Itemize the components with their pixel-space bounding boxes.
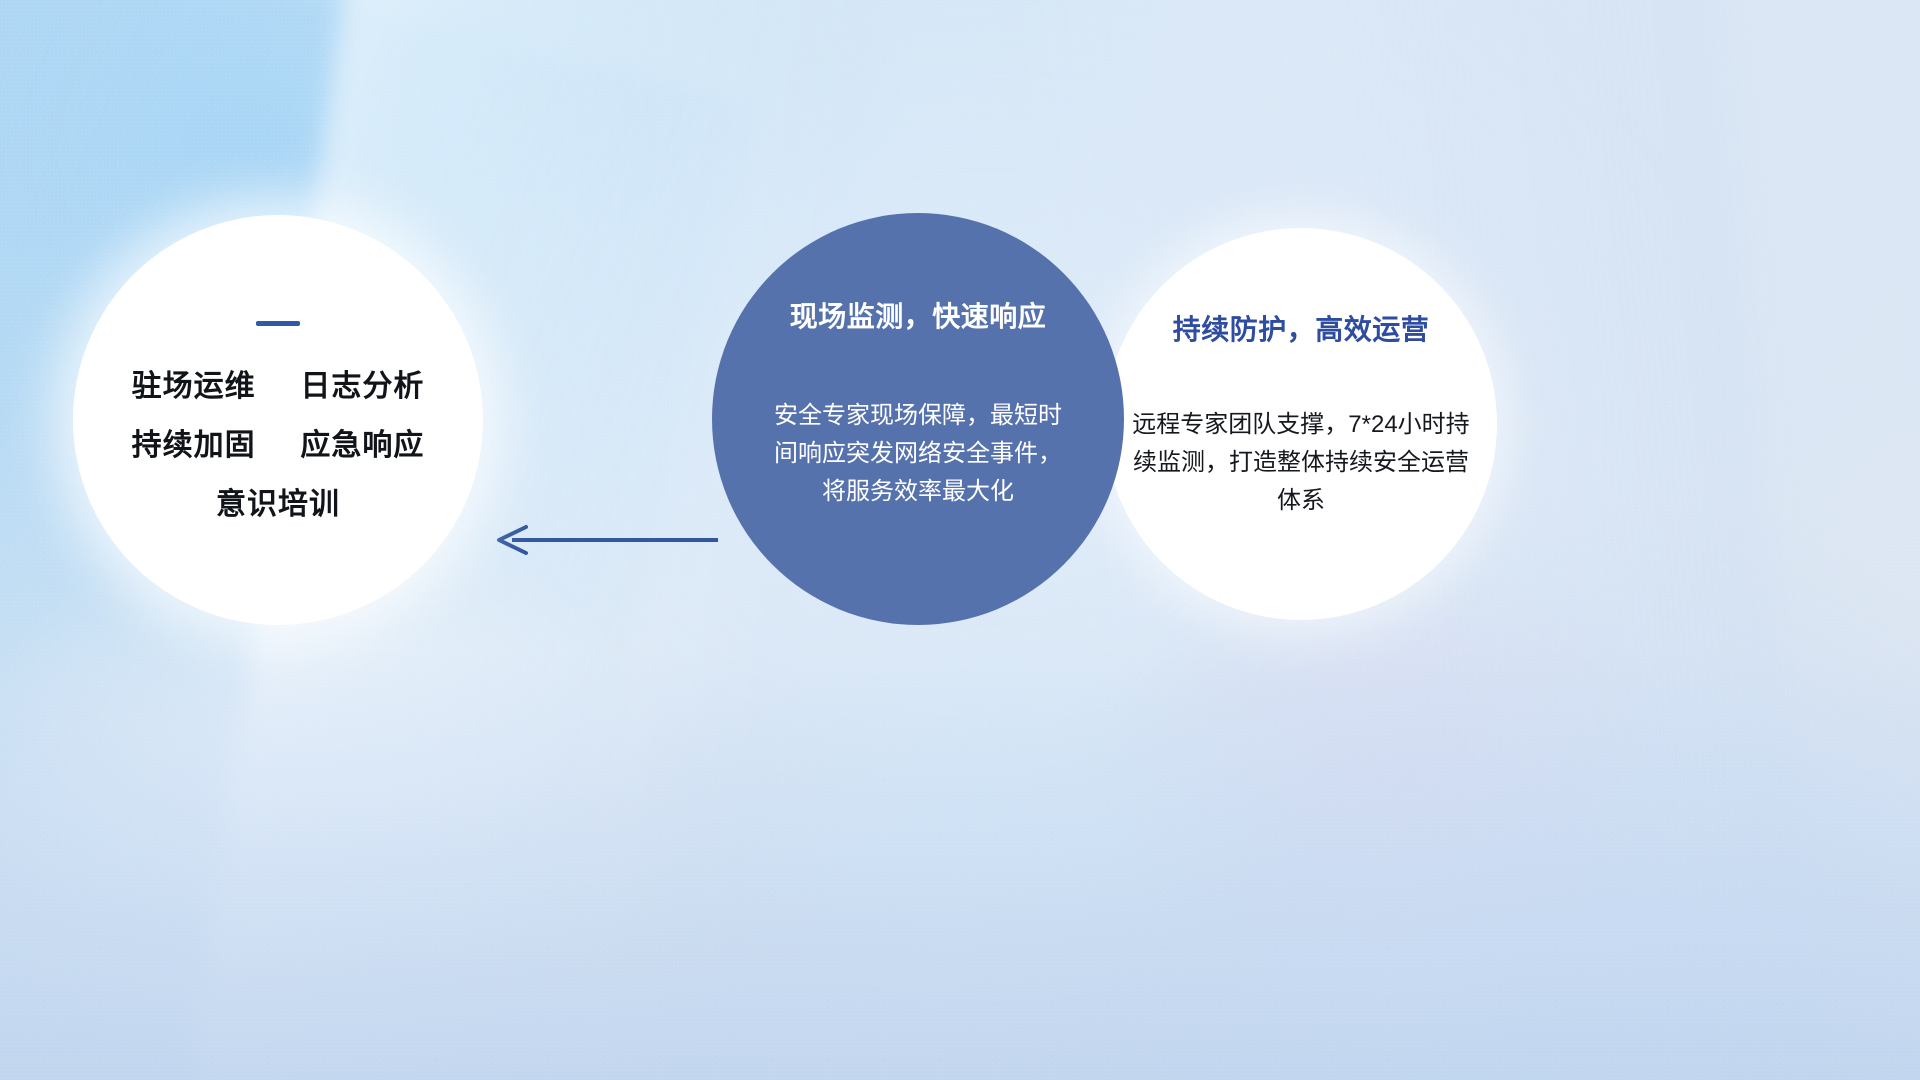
capability-label: 持续加固: [132, 429, 256, 462]
middle-circle-body: 安全专家现场保障，最短时间响应突发网络安全事件，将服务效率最大化: [773, 397, 1063, 511]
arrow-left-icon: [480, 515, 720, 565]
left-circle-content: 驻场运维 日志分析 持续加固 应急响应 意识培训: [73, 215, 483, 625]
right-circle-content: 持续防护，高效运营 远程专家团队支撑，7*24小时持续监测，打造整体持续安全运营…: [1105, 228, 1497, 620]
capability-label: 驻场运维: [132, 370, 256, 403]
capability-circle-left[interactable]: 驻场运维 日志分析 持续加固 应急响应 意识培训: [73, 215, 483, 625]
capability-label: 意识培训: [216, 488, 340, 521]
capability-label: 日志分析: [300, 370, 424, 403]
right-circle-title: 持续防护，高效运营: [1173, 308, 1430, 348]
right-circle-body: 远程专家团队支撑，7*24小时持续监测，打造整体持续安全运营体系: [1125, 406, 1477, 520]
capability-circle-right[interactable]: 持续防护，高效运营 远程专家团队支撑，7*24小时持续监测，打造整体持续安全运营…: [1105, 228, 1497, 620]
capability-row: 持续加固 应急响应: [132, 431, 425, 461]
slide-canvas: 驻场运维 日志分析 持续加固 应急响应 意识培训 持续防护，高效运营 远程专家团…: [0, 0, 1920, 1080]
capability-circle-middle[interactable]: 现场监测，快速响应 安全专家现场保障，最短时间响应突发网络安全事件，将服务效率最…: [712, 213, 1124, 625]
capability-row: 意识培训: [216, 490, 340, 520]
horizontal-dash-icon: [256, 321, 300, 326]
middle-circle-content: 现场监测，快速响应 安全专家现场保障，最短时间响应突发网络安全事件，将服务效率最…: [712, 213, 1124, 625]
capability-row: 驻场运维 日志分析: [132, 372, 425, 402]
middle-circle-title: 现场监测，快速响应: [790, 295, 1047, 335]
capability-label: 应急响应: [300, 429, 424, 462]
